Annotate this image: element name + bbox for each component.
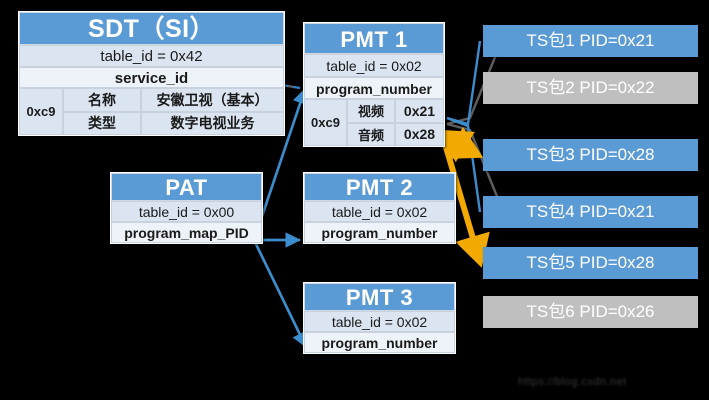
pmt1-video-pid: 0x21 [395,99,444,123]
sdt-detail-row: 类型 数字电视业务 [63,112,284,136]
pat-program-map-pid-row[interactable]: program_map_PID [111,222,262,243]
pmt1-table-card[interactable]: PMT 1 table_id = 0x02 program_number 0xc… [303,22,445,147]
pmt3-table-card[interactable]: PMT 3 table_id = 0x02 program_number [303,282,456,354]
ts-packet-bar-3[interactable]: TS包3 PID=0x28 [483,139,698,171]
pmt1-audio-label: 音频 [347,123,395,147]
pmt1-audio-pid: 0x28 [395,123,444,147]
sdt-name-label: 名称 [63,88,141,112]
sdt-name-value: 安徽卫视（基本） [141,88,284,112]
ts-packet-bar-1[interactable]: TS包1 PID=0x21 [483,25,698,57]
ts-packet-bar-5[interactable]: TS包5 PID=0x28 [483,247,698,279]
pat-table-id-row: table_id = 0x00 [111,201,262,222]
pmt2-table-id-row: table_id = 0x02 [304,201,455,222]
pat-table-card[interactable]: PAT table_id = 0x00 program_map_PID [110,172,263,244]
pmt1-video-label: 视频 [347,99,395,123]
pmt1-program-number-value: 0xc9 [304,99,347,146]
pmt1-program-number-row[interactable]: program_number [304,77,444,99]
sdt-detail-grid: 0xc9 名称 安徽卫视（基本） 类型 数字电视业务 [19,88,284,135]
ts-packet-bar-2[interactable]: TS包2 PID=0x22 [483,72,698,104]
sdt-type-value: 数字电视业务 [141,112,284,136]
pmt2-header: PMT 2 [304,173,455,201]
sdt-header: SDT（SI） [19,12,284,45]
sdt-detail-row: 名称 安徽卫视（基本） [63,88,284,112]
sdt-service-id-value: 0xc9 [19,88,63,135]
pmt2-table-card[interactable]: PMT 2 table_id = 0x02 program_number [303,172,456,244]
wire-pat-to-pmt3 [254,240,306,347]
ts-packet-bar-4[interactable]: TS包4 PID=0x21 [483,196,698,228]
pmt3-program-number-row[interactable]: program_number [304,332,455,353]
pmt2-program-number-row[interactable]: program_number [304,222,455,243]
sdt-service-id-row[interactable]: service_id [19,67,284,88]
diagram-canvas: SDT（SI） table_id = 0x42 service_id 0xc9 … [0,0,709,400]
watermark-text: https://blog.csdn.net [455,376,690,392]
pmt1-table-id-row: table_id = 0x02 [304,54,444,77]
ts-packet-bar-6[interactable]: TS包6 PID=0x26 [483,296,698,328]
pat-header: PAT [111,173,262,201]
pmt3-header: PMT 3 [304,283,455,311]
wire-video-pid-to-ts1 [447,41,480,124]
wire-audio-pid-to-ts3 [443,137,478,155]
sdt-type-label: 类型 [63,112,141,136]
pmt1-stream-row: 音频 0x28 [347,123,444,147]
sdt-table-card[interactable]: SDT（SI） table_id = 0x42 service_id 0xc9 … [18,11,285,136]
pmt3-table-id-row: table_id = 0x02 [304,311,455,332]
pmt1-header: PMT 1 [304,23,444,54]
wire-audio-pid-return [443,133,470,150]
sdt-table-id-row: table_id = 0x42 [19,45,284,67]
pmt1-stream-grid: 0xc9 视频 0x21 音频 0x28 [304,99,444,146]
pmt1-stream-row: 视频 0x21 [347,99,444,123]
